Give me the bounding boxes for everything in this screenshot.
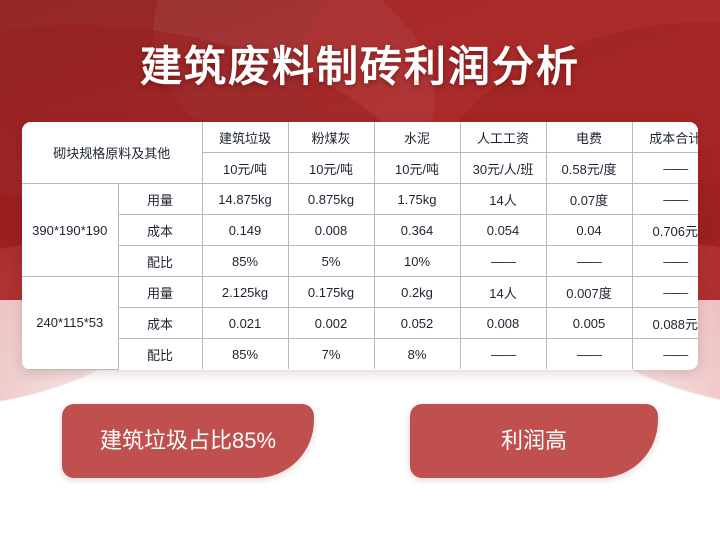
table-row: 390*190*190 用量 14.875kg 0.875kg 1.75kg 1… — [22, 184, 698, 215]
cell-0-0-1: 0.875kg — [288, 184, 374, 215]
cell-0-2-2: 10% — [374, 246, 460, 277]
spec-label-1: 240*115*53 — [22, 277, 118, 370]
cell-0-2-4: —— — [546, 246, 632, 277]
cell-0-1-1: 0.008 — [288, 215, 374, 246]
cell-1-2-5: —— — [632, 339, 698, 370]
column-header-1: 粉煤灰 — [288, 122, 374, 153]
cell-1-0-3: 14人 — [460, 277, 546, 308]
column-unit-price-3: 30元/人/班 — [460, 153, 546, 184]
data-table-card: 砌块规格原料及其他 建筑垃圾 粉煤灰 水泥 人工工资 电费 成本合计 10元/吨… — [22, 122, 698, 370]
cell-0-1-2: 0.364 — [374, 215, 460, 246]
cell-1-2-1: 7% — [288, 339, 374, 370]
table-row: 240*115*53 用量 2.125kg 0.175kg 0.2kg 14人 … — [22, 277, 698, 308]
column-header-5: 成本合计 — [632, 122, 698, 153]
cell-1-2-3: —— — [460, 339, 546, 370]
poster-root: 建筑废料制砖利润分析 砌块规格原料及其他 建筑垃圾 粉煤灰 水泥 人工工资 电费… — [0, 0, 720, 540]
metric-label-0-2: 配比 — [118, 246, 202, 277]
cell-0-1-4: 0.04 — [546, 215, 632, 246]
cell-1-0-5: —— — [632, 277, 698, 308]
cell-1-0-0: 2.125kg — [202, 277, 288, 308]
table-row: 配比 85% 7% 8% —— —— —— — [22, 339, 698, 370]
cell-1-1-3: 0.008 — [460, 308, 546, 339]
cell-1-0-2: 0.2kg — [374, 277, 460, 308]
cell-1-1-1: 0.002 — [288, 308, 374, 339]
column-header-0: 建筑垃圾 — [202, 122, 288, 153]
cell-0-2-5: —— — [632, 246, 698, 277]
cell-1-2-2: 8% — [374, 339, 460, 370]
column-header-3: 人工工资 — [460, 122, 546, 153]
cell-1-1-5: 0.088元 — [632, 308, 698, 339]
highlight-badge-waste-share: 建筑垃圾占比85% — [62, 404, 314, 478]
cell-0-2-1: 5% — [288, 246, 374, 277]
table-row: 成本 0.021 0.002 0.052 0.008 0.005 0.088元 — [22, 308, 698, 339]
table-header-row-names: 砌块规格原料及其他 建筑垃圾 粉煤灰 水泥 人工工资 电费 成本合计 — [22, 122, 698, 153]
cell-1-0-4: 0.007度 — [546, 277, 632, 308]
cell-0-2-3: —— — [460, 246, 546, 277]
cell-1-1-4: 0.005 — [546, 308, 632, 339]
cell-0-0-2: 1.75kg — [374, 184, 460, 215]
cell-0-0-0: 14.875kg — [202, 184, 288, 215]
table-corner-label: 砌块规格原料及其他 — [22, 122, 202, 184]
cell-1-1-0: 0.021 — [202, 308, 288, 339]
cell-1-0-1: 0.175kg — [288, 277, 374, 308]
metric-label-1-2: 配比 — [118, 339, 202, 370]
cell-0-2-0: 85% — [202, 246, 288, 277]
column-unit-price-1: 10元/吨 — [288, 153, 374, 184]
metric-label-1-0: 用量 — [118, 277, 202, 308]
cell-1-2-4: —— — [546, 339, 632, 370]
highlight-badge-high-profit: 利润高 — [410, 404, 658, 478]
page-title: 建筑废料制砖利润分析 — [0, 40, 720, 94]
column-unit-price-4: 0.58元/度 — [546, 153, 632, 184]
cell-0-0-3: 14人 — [460, 184, 546, 215]
column-unit-price-5: —— — [632, 153, 698, 184]
column-unit-price-0: 10元/吨 — [202, 153, 288, 184]
cell-1-2-0: 85% — [202, 339, 288, 370]
metric-label-1-1: 成本 — [118, 308, 202, 339]
column-header-2: 水泥 — [374, 122, 460, 153]
cell-0-1-3: 0.054 — [460, 215, 546, 246]
cost-analysis-table: 砌块规格原料及其他 建筑垃圾 粉煤灰 水泥 人工工资 电费 成本合计 10元/吨… — [22, 122, 698, 370]
spec-label-0: 390*190*190 — [22, 184, 118, 277]
cell-0-1-0: 0.149 — [202, 215, 288, 246]
cell-1-1-2: 0.052 — [374, 308, 460, 339]
table-row: 成本 0.149 0.008 0.364 0.054 0.04 0.706元 — [22, 215, 698, 246]
column-unit-price-2: 10元/吨 — [374, 153, 460, 184]
highlight-badge-waste-share-label: 建筑垃圾占比85% — [100, 423, 276, 455]
highlight-badge-high-profit-label: 利润高 — [501, 423, 567, 455]
cell-0-0-4: 0.07度 — [546, 184, 632, 215]
cell-0-1-5: 0.706元 — [632, 215, 698, 246]
metric-label-0-0: 用量 — [118, 184, 202, 215]
table-row: 配比 85% 5% 10% —— —— —— — [22, 246, 698, 277]
column-header-4: 电费 — [546, 122, 632, 153]
metric-label-0-1: 成本 — [118, 215, 202, 246]
cell-0-0-5: —— — [632, 184, 698, 215]
highlight-badges: 建筑垃圾占比85% 利润高 — [0, 404, 720, 488]
